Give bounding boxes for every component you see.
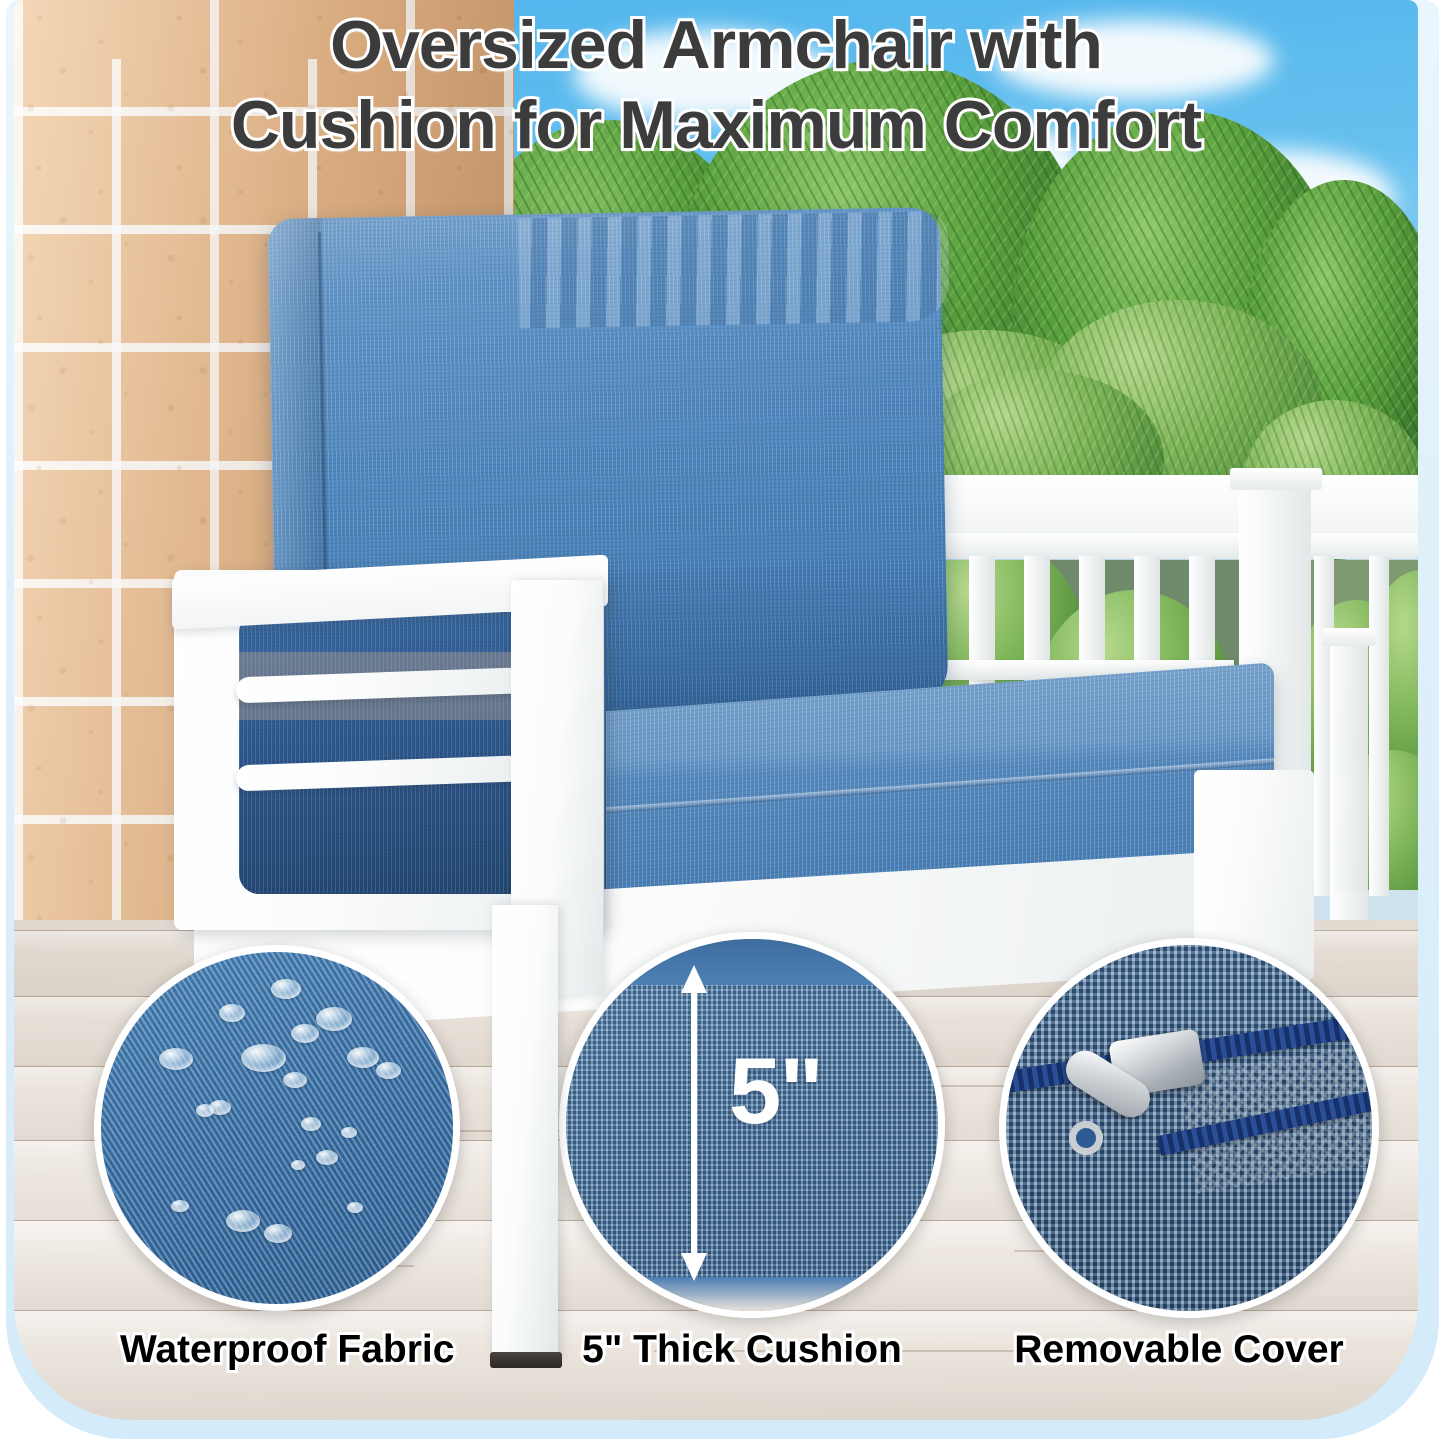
product-photo-plate: 5" Oversized Armchair with Cushion for M… (14, 0, 1418, 1420)
water-droplets-icon (301, 1117, 321, 1131)
callout-circle-waterproof (94, 945, 460, 1311)
thickness-measurement-label: 5" (729, 1037, 822, 1145)
dimension-arrow-icon (674, 963, 714, 1283)
water-droplets-icon (241, 1044, 286, 1072)
water-droplets-icon (347, 1202, 363, 1213)
page-title-line2: Cushion for Maximum Comfort (14, 90, 1418, 160)
water-droplets-icon (316, 1150, 338, 1165)
chair-leg-foot-cap (490, 1352, 562, 1368)
water-droplets-icon (271, 979, 301, 999)
water-droplets-icon (226, 1210, 260, 1232)
water-droplets-icon (219, 1004, 245, 1022)
product-feature-poster: 5" Oversized Armchair with Cushion for M… (0, 0, 1445, 1445)
callout-circle-removable-cover (999, 938, 1379, 1318)
water-droplets-icon (291, 1160, 305, 1170)
page-title-line1: Oversized Armchair with (14, 10, 1418, 80)
railing-column (1330, 640, 1368, 940)
water-droplets-icon (159, 1048, 193, 1070)
water-droplets-icon (196, 1104, 214, 1117)
waterproof-fabric-texture (101, 952, 453, 1304)
water-droplets-icon (264, 1224, 292, 1243)
water-droplets-icon (171, 1200, 189, 1212)
armrest-cutout (239, 612, 539, 894)
railing-post-cap (1230, 468, 1322, 490)
water-droplets-icon (316, 1007, 352, 1031)
caption-waterproof-fabric: Waterproof Fabric (120, 1328, 420, 1372)
caption-removable-cover: Removable Cover (994, 1328, 1364, 1372)
railing-column-cap (1322, 628, 1376, 646)
water-droplets-icon (283, 1072, 307, 1088)
callout-circle-thickness: 5" (559, 932, 945, 1318)
caption-thick-cushion: 5" Thick Cushion (562, 1328, 922, 1372)
water-droplets-icon (291, 1024, 319, 1043)
cushion-top-edge (566, 939, 938, 985)
water-droplets-icon (341, 1127, 357, 1138)
chair-front-leg (492, 905, 558, 1360)
water-droplets-icon (347, 1047, 379, 1068)
cushion-bottom-edge (566, 1277, 938, 1311)
water-droplets-icon (376, 1062, 401, 1079)
baluster (1369, 556, 1389, 896)
cushion-pleats (518, 211, 950, 328)
